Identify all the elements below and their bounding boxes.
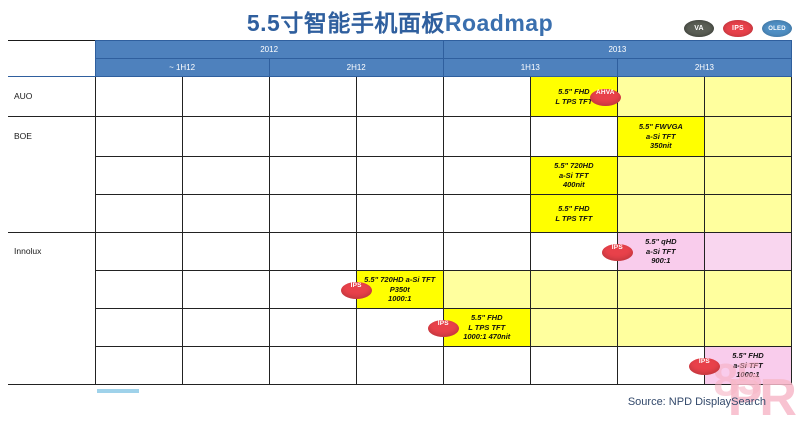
roadmap-cell (269, 157, 356, 195)
cell-content (96, 364, 182, 368)
cell-line: a-Si TFT (619, 132, 703, 141)
roadmap-cell (704, 195, 791, 233)
roadmap-cell (443, 347, 530, 385)
cell-content (618, 212, 704, 216)
cell-content (183, 95, 269, 99)
roadmap-cell (95, 77, 182, 117)
half-header-2h13: 2H13 (617, 59, 791, 77)
cell-content (270, 174, 356, 178)
roadmap-cell (704, 157, 791, 195)
table-row: BOE5.5" FWVGAa-Si TFT350nit (8, 117, 792, 157)
roadmap-cell (617, 157, 704, 195)
roadmap-cell[interactable]: 5.5" FWVGAa-Si TFT350nit (617, 117, 704, 157)
roadmap-cell (530, 271, 617, 309)
maker-label-auo: AUO (8, 77, 95, 117)
roadmap-cell (95, 233, 182, 271)
cell-line: 350nit (619, 141, 703, 150)
table-head: 2012 2013 ~ 1H12 2H12 1H13 2H13 (8, 41, 792, 77)
roadmap-cell (617, 195, 704, 233)
cell-content (183, 288, 269, 292)
cell-content (705, 288, 791, 292)
cell-content (531, 364, 617, 368)
roadmap-cell (182, 195, 269, 233)
roadmap-cell (704, 309, 791, 347)
cell-content: 5.5" 720HD a-Si TFTP350t1000:1IPS (357, 273, 443, 305)
cell-line: 1000:1 470nit (445, 332, 529, 341)
cell-content (357, 174, 443, 178)
cell-content (96, 326, 182, 330)
cell-content (705, 135, 791, 139)
cell-content (357, 95, 443, 99)
roadmap-cell (530, 309, 617, 347)
cell-content (705, 212, 791, 216)
maker-label-blank (8, 347, 95, 385)
roadmap-cell (443, 77, 530, 117)
roadmap-cell (269, 347, 356, 385)
roadmap-cell (182, 157, 269, 195)
cell-line: 1000:1 (706, 370, 790, 379)
roadmap-cell (182, 271, 269, 309)
tech-badge-ahva: AHVA (590, 89, 621, 106)
cell-content (96, 174, 182, 178)
maker-label-innolux: Innolux (8, 233, 95, 271)
roadmap-cell (617, 77, 704, 117)
cell-line: L TPS TFT (532, 214, 616, 223)
cell-line: 900:1 (619, 256, 703, 265)
cell-content (531, 288, 617, 292)
cell-content (444, 364, 530, 368)
cell-line: 1000:1 (358, 294, 442, 303)
cell-content (444, 250, 530, 254)
roadmap-table: 2012 2013 ~ 1H12 2H12 1H13 2H13 AUO5.5" … (8, 40, 792, 385)
cell-content: 5.5" 720HDa-Si TFT400nit (531, 159, 617, 191)
cell-content (96, 250, 182, 254)
roadmap-cell (182, 117, 269, 157)
roadmap-cell (95, 157, 182, 195)
table-body: AUO5.5" FHDL TPS TFTAHVABOE5.5" FWVGAa-S… (8, 77, 792, 385)
roadmap-cell (356, 77, 443, 117)
cell-content (270, 212, 356, 216)
table-row: AUO5.5" FHDL TPS TFTAHVA (8, 77, 792, 117)
year-header-2012: 2012 (95, 41, 443, 59)
cell-content (270, 135, 356, 139)
source-label: Source: NPD DisplaySearch (628, 396, 766, 408)
roadmap-cell (269, 77, 356, 117)
table-row: 5.5" 720HD a-Si TFTP350t1000:1IPS (8, 271, 792, 309)
roadmap-cell (617, 271, 704, 309)
cell-content: 5.5" FHDa-Si TFT1000:1IPS (705, 349, 791, 381)
tech-badge-ips: IPS (689, 358, 720, 375)
cell-content (357, 364, 443, 368)
maker-label-blank (8, 309, 95, 347)
table-row: 5.5" FHDL TPS TFT (8, 195, 792, 233)
roadmap-cell[interactable]: 5.5" FHDL TPS TFTAHVA (530, 77, 617, 117)
cell-content (444, 135, 530, 139)
cell-line: 5.5" FHD (706, 351, 790, 360)
cell-content (618, 95, 704, 99)
maker-label-blank (8, 157, 95, 195)
roadmap-cell (704, 117, 791, 157)
cell-content (444, 95, 530, 99)
table-row: Innolux5.5" qHDa-Si TFT900:1IPS (8, 233, 792, 271)
table-row: 5.5" FHDa-Si TFT1000:1IPS (8, 347, 792, 385)
half-header-1h12: ~ 1H12 (95, 59, 269, 77)
roadmap-cell[interactable]: 5.5" 720HD a-Si TFTP350t1000:1IPS (356, 271, 443, 309)
half-header-2h12: 2H12 (269, 59, 443, 77)
cell-line: 5.5" 720HD (532, 161, 616, 170)
roadmap-slide: 5.5寸智能手机面板Roadmap VA IPS OLED 2012 2013 … (0, 0, 800, 420)
cell-line: a-Si TFT (532, 171, 616, 180)
cell-content (618, 326, 704, 330)
cell-line: 5.5" qHD (619, 237, 703, 246)
cell-content (444, 288, 530, 292)
roadmap-cell (269, 195, 356, 233)
roadmap-cell (704, 233, 791, 271)
cell-content (705, 95, 791, 99)
roadmap-cell (617, 309, 704, 347)
roadmap-cell (530, 347, 617, 385)
cell-content (96, 95, 182, 99)
cell-content: 5.5" FHDL TPS TFTAHVA (531, 85, 617, 108)
cell-content (357, 250, 443, 254)
roadmap-cell (704, 77, 791, 117)
roadmap-cell (443, 195, 530, 233)
cell-content (444, 174, 530, 178)
maker-label-boe: BOE (8, 117, 95, 157)
roadmap-cell (182, 77, 269, 117)
roadmap-cell[interactable]: 5.5" 720HDa-Si TFT400nit (530, 157, 617, 195)
cell-content (270, 364, 356, 368)
cell-line: 5.5" 720HD a-Si TFT (358, 275, 442, 284)
roadmap-cell (269, 309, 356, 347)
cell-content (270, 95, 356, 99)
blue-strip-decoration (97, 389, 139, 393)
cell-content (183, 174, 269, 178)
cell-content (618, 174, 704, 178)
roadmap-cell (356, 233, 443, 271)
half-header-1h13: 1H13 (443, 59, 617, 77)
roadmap-cell (356, 195, 443, 233)
roadmap-cell[interactable]: 5.5" FHDa-Si TFT1000:1IPS (704, 347, 791, 385)
year-header-2013: 2013 (443, 41, 791, 59)
cell-content: 5.5" FHDL TPS TFT (531, 202, 617, 225)
corner-blank (8, 41, 95, 77)
cell-content (270, 326, 356, 330)
cell-content (183, 135, 269, 139)
page-title: 5.5寸智能手机面板Roadmap (0, 4, 800, 38)
roadmap-cell (95, 195, 182, 233)
cell-content (705, 250, 791, 254)
table-row: 5.5" FHDL TPS TFT1000:1 470nitIPS (8, 309, 792, 347)
cell-content (96, 288, 182, 292)
roadmap-cell (182, 309, 269, 347)
roadmap-cell[interactable]: 5.5" FHDL TPS TFT (530, 195, 617, 233)
tech-badge-ips: IPS (341, 282, 372, 299)
legend-badge-va: VA (684, 20, 714, 37)
cell-content (183, 212, 269, 216)
cell-content (96, 135, 182, 139)
roadmap-cell (269, 233, 356, 271)
page-title-en: Roadmap (445, 10, 553, 36)
roadmap-cell[interactable]: 5.5" FHDL TPS TFT1000:1 470nitIPS (443, 309, 530, 347)
cell-content (705, 174, 791, 178)
maker-label-blank (8, 195, 95, 233)
roadmap-cell (443, 271, 530, 309)
roadmap-cell (443, 233, 530, 271)
roadmap-cell (269, 117, 356, 157)
roadmap-cell (95, 309, 182, 347)
roadmap-cell (356, 347, 443, 385)
cell-content: 5.5" FWVGAa-Si TFT350nit (618, 120, 704, 152)
cell-line: 5.5" FHD (532, 204, 616, 213)
roadmap-cell (182, 233, 269, 271)
cell-content (444, 212, 530, 216)
cell-content (357, 135, 443, 139)
cell-content (183, 364, 269, 368)
page-title-cn: 5.5寸智能手机面板 (247, 10, 445, 36)
roadmap-cell (443, 157, 530, 195)
cell-content (270, 250, 356, 254)
cell-content: 5.5" FHDL TPS TFT1000:1 470nitIPS (444, 311, 530, 343)
cell-content (183, 250, 269, 254)
cell-content (618, 288, 704, 292)
tech-badge-ips: IPS (428, 320, 459, 337)
cell-content (96, 212, 182, 216)
table-row: 5.5" 720HDa-Si TFT400nit (8, 157, 792, 195)
roadmap-cell (356, 117, 443, 157)
legend-badge-oled: OLED (762, 20, 792, 37)
roadmap-cell (356, 157, 443, 195)
roadmap-cell (95, 271, 182, 309)
cell-content (183, 326, 269, 330)
year-header-row: 2012 2013 (8, 41, 792, 59)
roadmap-cell (95, 347, 182, 385)
cell-content: 5.5" qHDa-Si TFT900:1IPS (618, 235, 704, 267)
cell-line: 5.5" FHD (445, 313, 529, 322)
cell-line: 5.5" FWVGA (619, 122, 703, 131)
cell-content (705, 326, 791, 330)
roadmap-cell (443, 117, 530, 157)
cell-content (531, 326, 617, 330)
roadmap-cell[interactable]: 5.5" qHDa-Si TFT900:1IPS (617, 233, 704, 271)
cell-content (531, 135, 617, 139)
roadmap-cell (530, 117, 617, 157)
tech-badge-ips: IPS (602, 244, 633, 261)
legend-badge-ips: IPS (723, 20, 753, 37)
maker-label-blank (8, 271, 95, 309)
roadmap-cell (704, 271, 791, 309)
cell-content (357, 212, 443, 216)
cell-line: 400nit (532, 180, 616, 189)
legend: VA IPS OLED (684, 20, 792, 37)
half-header-row: ~ 1H12 2H12 1H13 2H13 (8, 59, 792, 77)
roadmap-cell (95, 117, 182, 157)
roadmap-cell (182, 347, 269, 385)
